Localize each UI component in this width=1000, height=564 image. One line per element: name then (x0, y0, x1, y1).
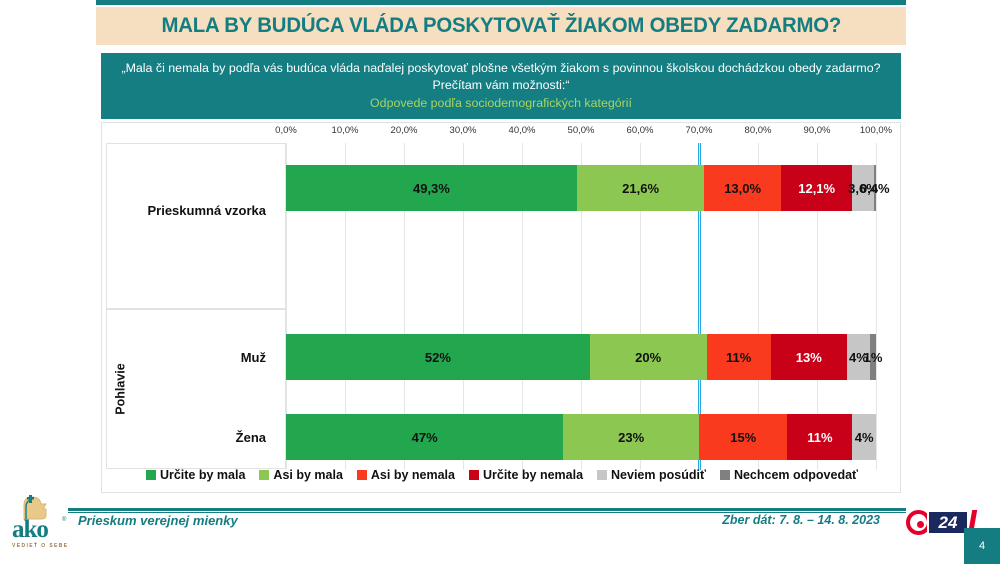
bar-segment-label: 20% (635, 350, 661, 365)
logo-number-text: 24 (939, 513, 958, 533)
x-tick-label: 90,0% (804, 125, 831, 136)
bar-segment-label: 1% (864, 350, 883, 365)
legend-label: Neviem posúdiť (611, 468, 706, 482)
legend-swatch (720, 470, 730, 480)
x-axis-ticks: 0,0%10,0%20,0%30,0%40,0%50,0%60,0%70,0%8… (102, 123, 902, 143)
legend-label: Asi by nemala (371, 468, 455, 482)
bar-segment-label: 11% (807, 430, 832, 445)
x-tick-label: 80,0% (745, 125, 772, 136)
chart-panel: 0,0%10,0%20,0%30,0%40,0%50,0%60,0%70,0%8… (101, 122, 901, 493)
x-tick-label: 50,0% (568, 125, 595, 136)
footer-date: Zber dát: 7. 8. – 14. 8. 2023 (722, 513, 880, 527)
footer-note: Prieskum verejnej mienky (78, 513, 238, 528)
legend-label: Určite by nemala (483, 468, 583, 482)
bar-segment: 20% (590, 334, 707, 380)
ako-tagline: VEDIEŤ O SEBE (12, 543, 69, 549)
category-box-sample (106, 143, 286, 309)
bar-segment: 12,1% (781, 165, 852, 211)
plot-area: Pohlavie Prieskumná vzorka49,3%21,6%13,0… (102, 143, 902, 470)
x-tick-label: 70,0% (686, 125, 713, 136)
bar-segment-label: 49,3% (413, 181, 450, 196)
bar-segment: 0,4% (874, 165, 876, 211)
question-subtitle: Odpovede podľa sociodemografických kateg… (370, 95, 632, 112)
bar-segment-label: 13,0% (724, 181, 761, 196)
legend-label: Určite by mala (160, 468, 245, 482)
bar-segment: 47% (286, 414, 563, 460)
x-tick-label: 60,0% (627, 125, 654, 136)
stacked-bar: 52%20%11%13%4%1% (286, 334, 876, 380)
legend-item[interactable]: Asi by mala (259, 468, 342, 482)
bar-segment: 15% (699, 414, 788, 460)
question-band: „Mala či nemala by podľa vás budúca vlád… (101, 51, 901, 119)
bar-segment-label: 12,1% (798, 181, 835, 196)
bar-segment: 49,3% (286, 165, 577, 211)
stacked-bar: 47%23%15%11%4% (286, 414, 876, 460)
bar-segment-label: 15% (730, 430, 756, 445)
x-tick-label: 100,0% (860, 125, 892, 136)
group-axis-label-text: Pohlavie (114, 363, 128, 414)
ako-wordmark: ako (12, 516, 48, 544)
legend-item[interactable]: Asi by nemala (357, 468, 455, 482)
bar-segment-label: 52% (425, 350, 451, 365)
legend-label: Asi by mala (273, 468, 342, 482)
bar-segment: 21,6% (577, 165, 704, 211)
page-number-tab: 4 (964, 528, 1000, 564)
bar-segment-label: 21,6% (622, 181, 659, 196)
bar-segment-label: 0,4% (860, 181, 890, 196)
bar-segment: 13,0% (704, 165, 781, 211)
legend-swatch (259, 470, 269, 480)
legend-item[interactable]: Neviem posúdiť (597, 468, 706, 482)
legend-swatch (597, 470, 607, 480)
group-axis-label: Pohlavie (110, 309, 132, 469)
bar-segment: 13% (771, 334, 847, 380)
category-box-gender (106, 309, 286, 469)
bar-segment: 4% (852, 414, 876, 460)
footer-rule (68, 508, 906, 511)
bar-segment: 11% (707, 334, 771, 380)
bar-segment-label: 11% (726, 350, 751, 365)
x-tick-label: 0,0% (275, 125, 297, 136)
category-label: Žena (116, 430, 276, 445)
page-title: MALA BY BUDÚCA VLÁDA POSKYTOVAŤ ŽIAKOM O… (161, 14, 841, 38)
legend-swatch (357, 470, 367, 480)
bar-segment-label: 13% (796, 350, 822, 365)
x-tick-label: 20,0% (391, 125, 418, 136)
bar-segment: 23% (563, 414, 699, 460)
legend-swatch (146, 470, 156, 480)
legend-item[interactable]: Určite by mala (146, 468, 245, 482)
legend-swatch (469, 470, 479, 480)
bar-segment-label: 4% (855, 430, 874, 445)
category-label: Prieskumná vzorka (116, 203, 276, 218)
legend-label: Nechcem odpovedať (734, 468, 858, 482)
x-tick-label: 40,0% (509, 125, 536, 136)
slide-title-band: MALA BY BUDÚCA VLÁDA POSKYTOVAŤ ŽIAKOM O… (96, 7, 906, 45)
x-tick-label: 10,0% (332, 125, 359, 136)
ako-registered-mark: ® (62, 517, 66, 523)
stacked-bar: 49,3%21,6%13,0%12,1%3,6%0,4% (286, 165, 876, 211)
bar-segment: 1% (870, 334, 876, 380)
legend-item[interactable]: Nechcem odpovedať (720, 468, 858, 482)
category-label: Muž (116, 350, 276, 365)
page-number: 4 (979, 540, 985, 552)
x-tick-label: 30,0% (450, 125, 477, 136)
bar-segment: 11% (787, 414, 852, 460)
bar-segment-label: 23% (618, 430, 644, 445)
bar-segment-label: 47% (412, 430, 438, 445)
bar-segment: 52% (286, 334, 590, 380)
logo-number-box: 24 (927, 510, 969, 535)
question-text: „Mala či nemala by podľa vás budúca vlád… (116, 60, 886, 94)
chart-legend: Určite by malaAsi by malaAsi by nemalaUr… (102, 464, 902, 486)
legend-item[interactable]: Určite by nemala (469, 468, 583, 482)
